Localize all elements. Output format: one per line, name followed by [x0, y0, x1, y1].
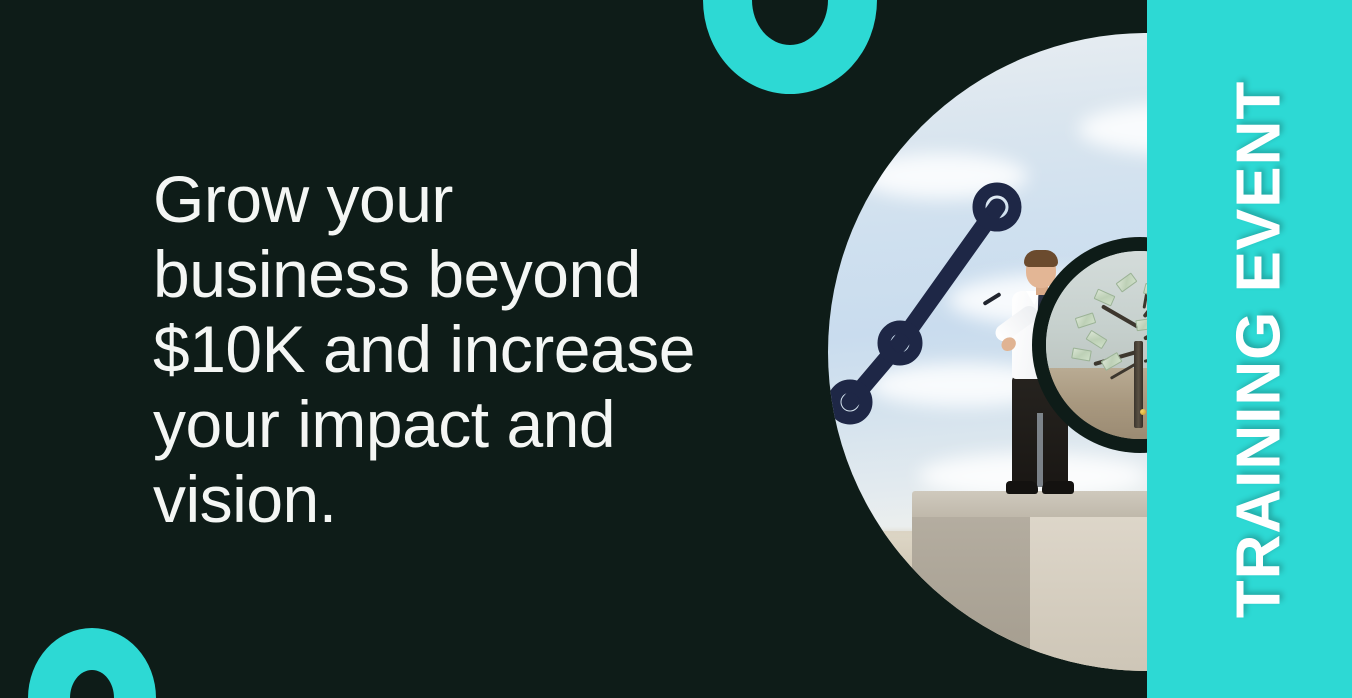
- chart-segment-2: [900, 207, 997, 343]
- page-title: Grow your business beyond $10K and incre…: [153, 162, 843, 537]
- falling-coin: [1140, 409, 1146, 415]
- poster-canvas: Grow your business beyond $10K and incre…: [0, 0, 1352, 698]
- sidebar-label-container: TRAINING EVENT: [1147, 0, 1352, 698]
- sidebar-label: TRAINING EVENT: [1223, 80, 1294, 618]
